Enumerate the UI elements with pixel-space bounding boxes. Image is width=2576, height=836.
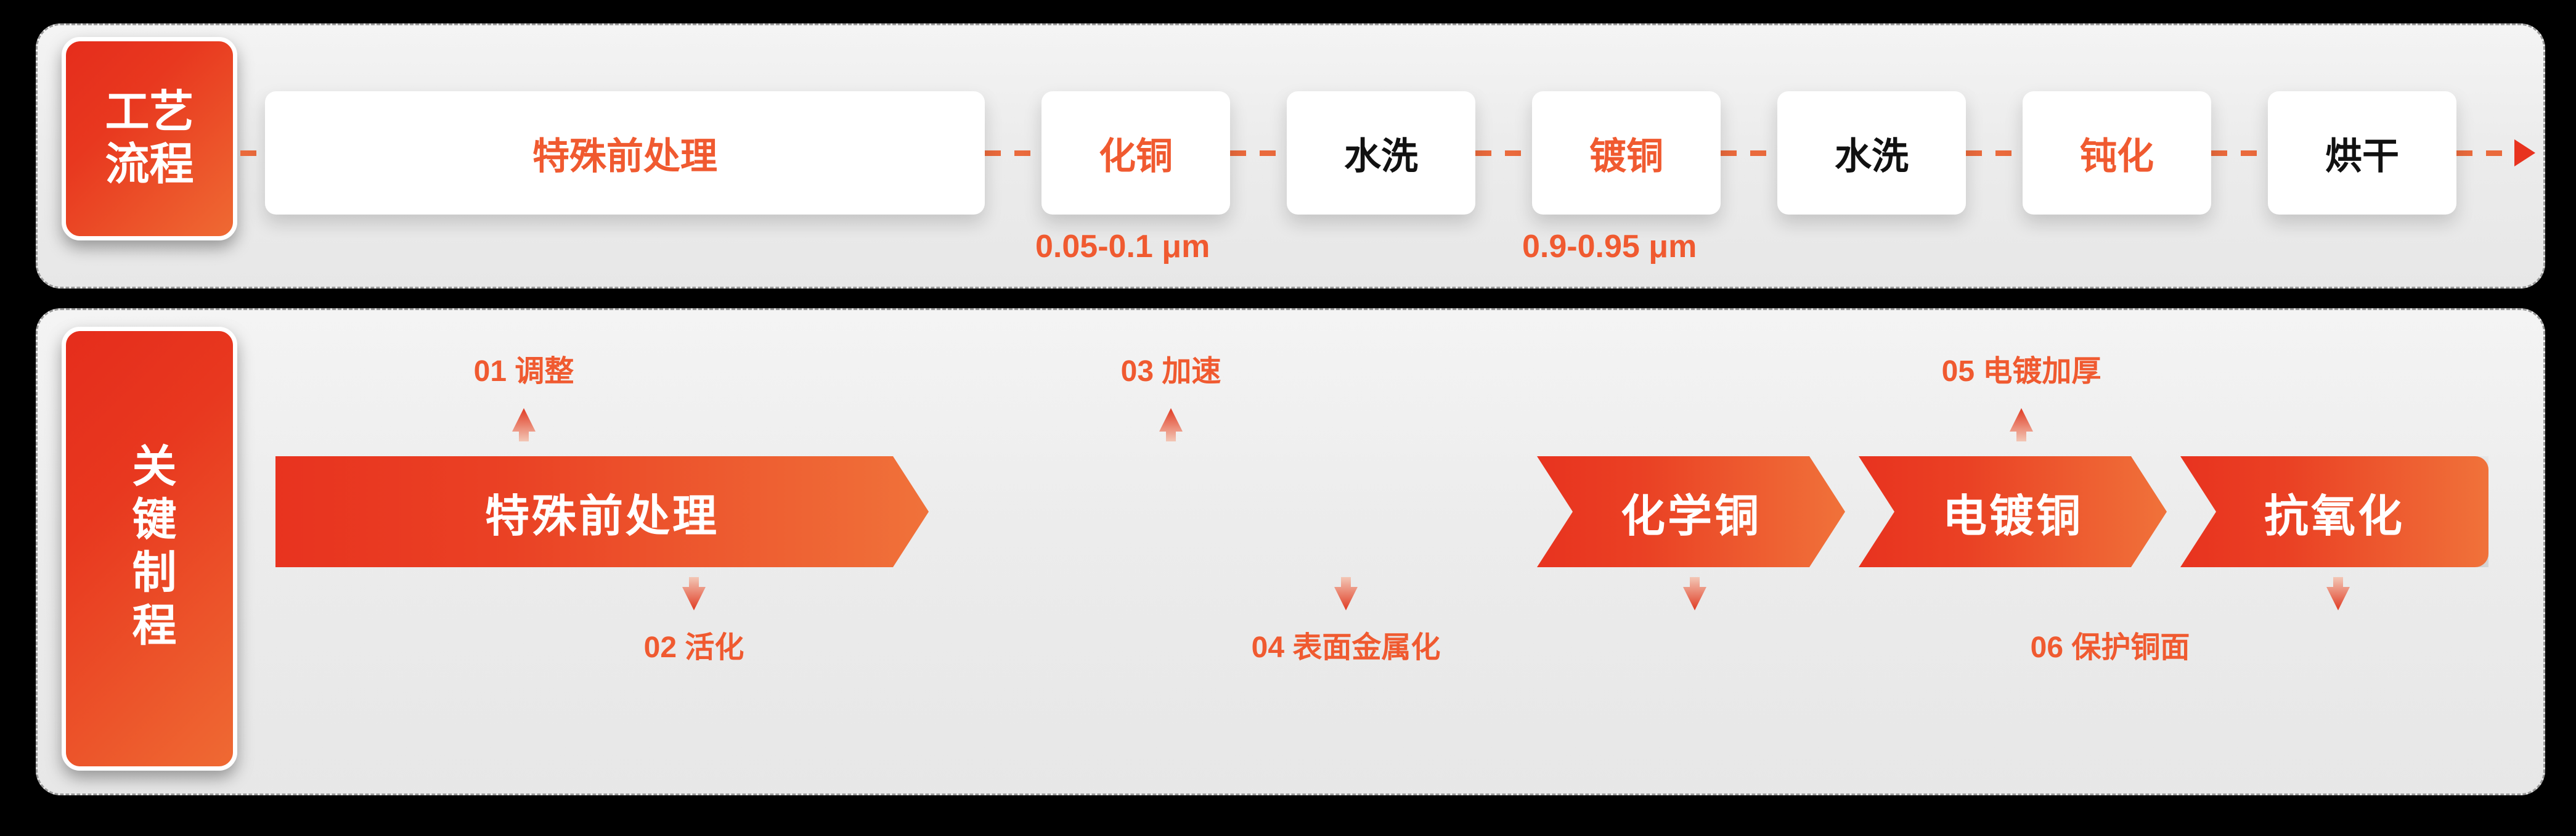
flow-end-arrow-icon [2514, 139, 2535, 166]
stage-callout-above: 03 加速 [1121, 346, 1221, 390]
connector-dash [1721, 150, 1777, 156]
process-step-box[interactable]: 水洗 [1287, 91, 1475, 215]
label-line-2: 流程 [105, 140, 194, 189]
connector-dash-end [2456, 150, 2517, 156]
stage-callout-above: 05 电镀加厚 [1942, 346, 2101, 390]
process-flow-label: 工艺 流程 [62, 37, 237, 240]
process-step-label: 特殊前处理 [532, 126, 717, 180]
process-step-label: 烘干 [2325, 126, 2399, 180]
stage-callout-above: 01 调整 [474, 346, 574, 390]
process-step-label: 镀铜 [1589, 126, 1663, 180]
connector-dash [2211, 150, 2268, 156]
callout-down-arrow-icon [1681, 573, 1709, 612]
process-step-label: 钝化 [2080, 126, 2154, 180]
stage-callout-below: 06 保护铜面 [2031, 623, 2190, 666]
callout-down-arrow-icon [2324, 573, 2352, 612]
key-stage-chevron[interactable]: 特殊前处理 [275, 456, 929, 567]
thickness-note: 0.9-0.95 μm [1522, 228, 1697, 265]
callout-up-arrow-icon [510, 407, 538, 445]
callout-down-arrow-icon [1332, 573, 1360, 612]
connector-dash [985, 150, 1041, 156]
key-stage-row: 特殊前处理 化学铜 电镀铜 抗氧化 [0, 456, 2576, 567]
key-stage-label: 化学铜 [1621, 480, 1761, 544]
process-step-box[interactable]: 水洗 [1777, 91, 1966, 215]
stage-callout-below: 04 表面金属化 [1252, 623, 1441, 666]
key-stage-chevron[interactable]: 抗氧化 [2180, 456, 2488, 567]
connector-dash [1966, 150, 2023, 156]
key-stage-label: 特殊前处理 [485, 480, 719, 544]
process-step-label: 水洗 [1835, 126, 1909, 180]
key-stage-chevron[interactable]: 化学铜 [1537, 456, 1845, 567]
label-line-1: 工艺 [105, 88, 194, 137]
process-step-box[interactable]: 化铜 [1041, 91, 1230, 215]
key-stage-label: 电镀铜 [1942, 480, 2083, 544]
process-step-label: 水洗 [1344, 126, 1418, 180]
process-step-box[interactable]: 镀铜 [1532, 91, 1721, 215]
callout-up-arrow-icon [2007, 407, 2036, 445]
key-stage-chevron[interactable]: 电镀铜 [1859, 456, 2167, 567]
process-step-row: 特殊前处理 化铜 水洗 镀铜 水洗 钝化 烘干 0.05-0.1 μm 0.9-… [265, 91, 2521, 215]
callout-down-arrow-icon [680, 573, 708, 612]
key-stage-label: 抗氧化 [2264, 480, 2405, 544]
process-step-box[interactable]: 特殊前处理 [265, 91, 985, 215]
process-step-label: 化铜 [1099, 126, 1173, 180]
connector-dash [1230, 150, 1287, 156]
connector-dash [1475, 150, 1532, 156]
stage-callout-below: 02 活化 [644, 623, 744, 666]
process-flow-label-text: 工艺 流程 [105, 86, 194, 191]
thickness-note: 0.05-0.1 μm [1035, 228, 1210, 265]
callout-up-arrow-icon [1157, 407, 1185, 445]
process-step-box[interactable]: 烘干 [2268, 91, 2456, 215]
connector-dash [240, 150, 265, 156]
process-step-box[interactable]: 钝化 [2023, 91, 2211, 215]
